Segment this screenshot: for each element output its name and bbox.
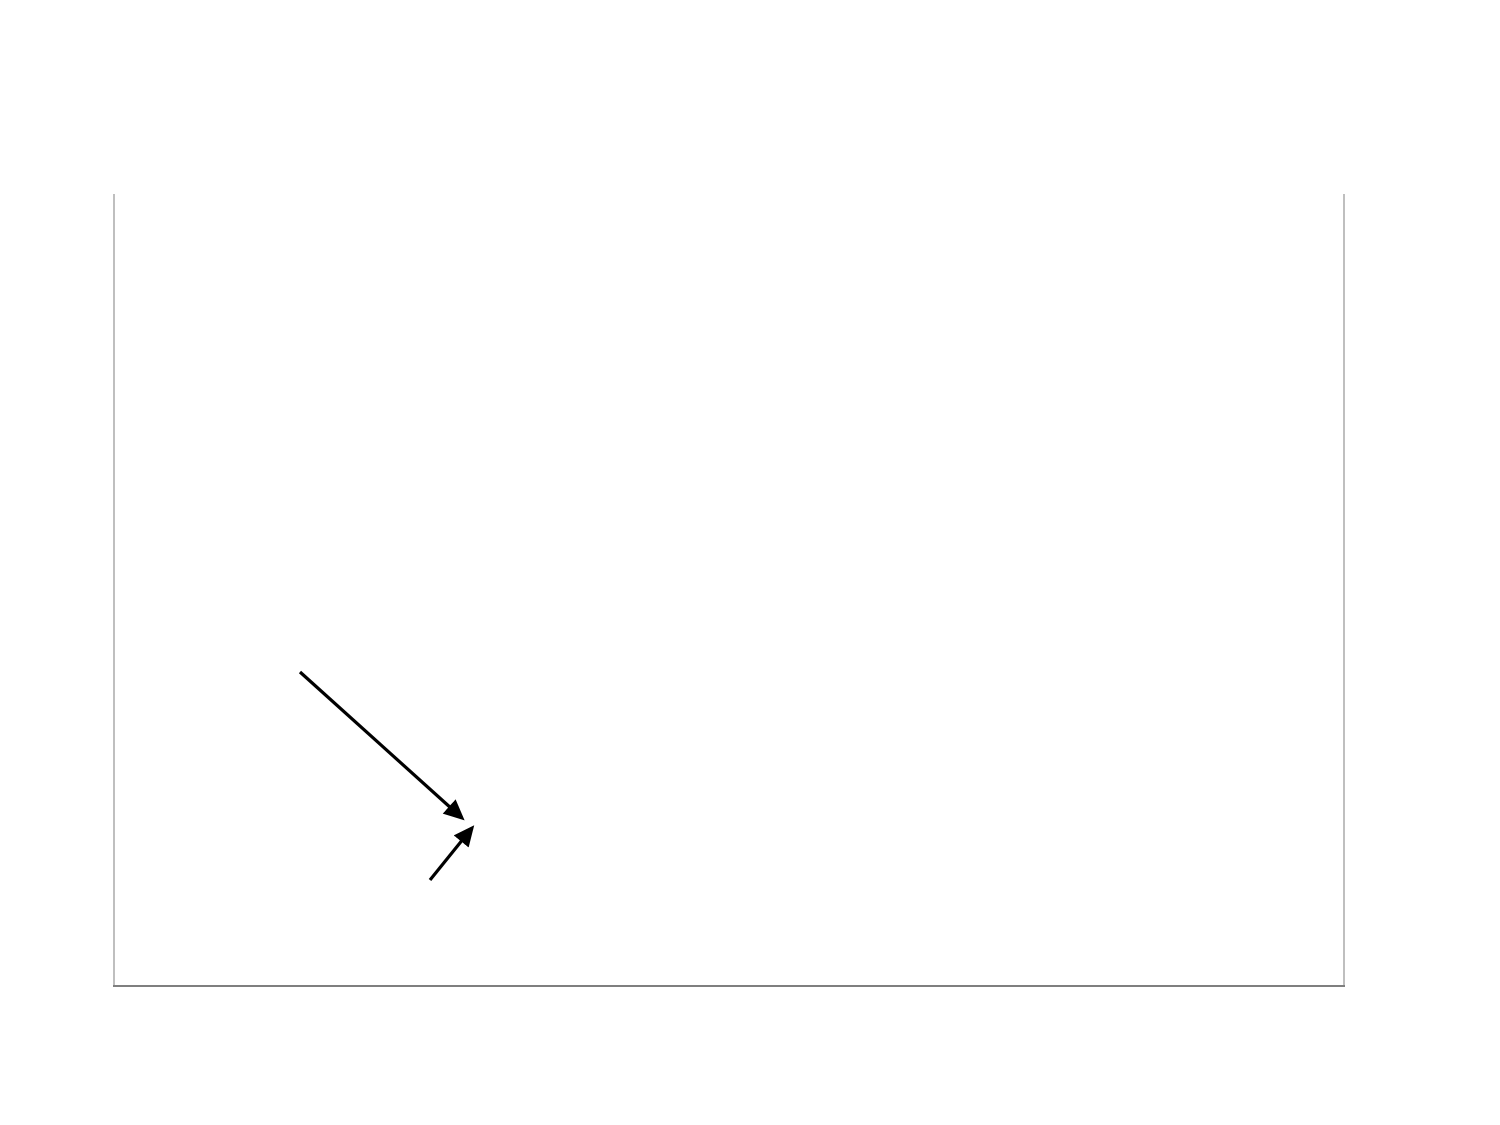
plot-area [113, 194, 1343, 986]
plot-svg [113, 194, 1343, 986]
y-axis-right-spine [1343, 194, 1345, 987]
chart-root [0, 0, 1500, 1125]
chart-title-block [0, 14, 1500, 18]
